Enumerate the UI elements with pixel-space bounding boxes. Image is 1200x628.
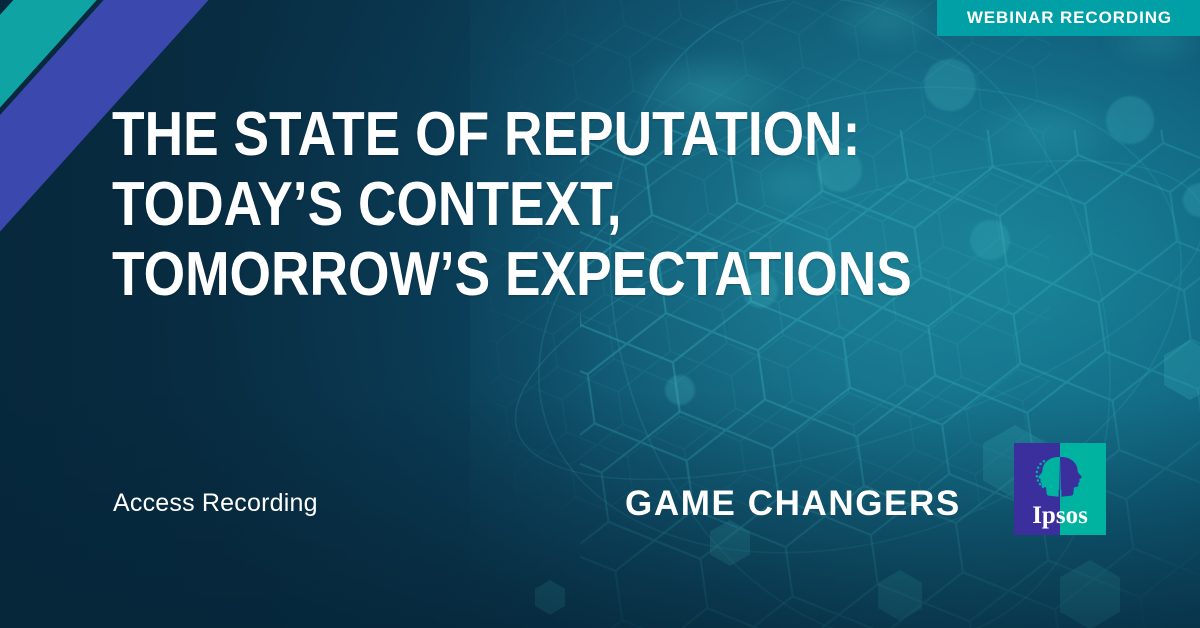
status-badge-label: WEBINAR RECORDING (967, 8, 1172, 28)
ipsos-logo: Ipsos (1014, 443, 1106, 535)
svg-text:Ipsos: Ipsos (1032, 502, 1088, 529)
access-recording-link[interactable]: Access Recording (113, 489, 318, 518)
page-title-line-1: THE STATE OF REPUTATION: (112, 100, 912, 170)
page-title-line-2: TODAY’S CONTEXT, (112, 170, 912, 240)
status-badge: WEBINAR RECORDING (937, 0, 1200, 36)
page-title-line-3: TOMORROW’S EXPECTATIONS (112, 240, 912, 310)
page-title: THE STATE OF REPUTATION: TODAY’S CONTEXT… (112, 100, 1042, 310)
webinar-promo-banner: WEBINAR RECORDING THE STATE OF REPUTATIO… (0, 0, 1200, 628)
program-name: GAME CHANGERS (625, 484, 961, 524)
